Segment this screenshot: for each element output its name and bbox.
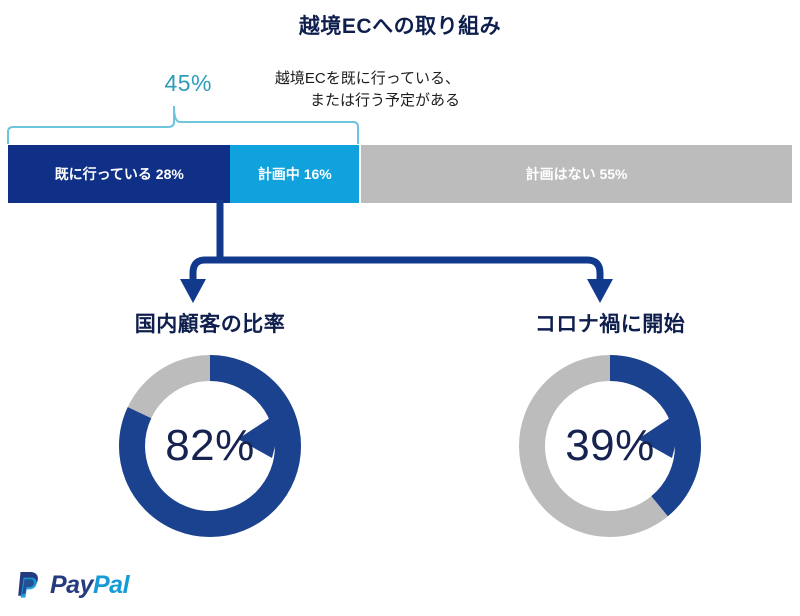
donut-title: 国内顧客の比率 (50, 308, 370, 338)
donut-value-label: 39% (510, 346, 710, 546)
bar-segment-label: 既に行っている 28% (55, 164, 184, 184)
connector-arrows (0, 200, 800, 310)
bar-segment-label: 計画中 16% (258, 164, 332, 184)
paypal-monogram-icon (14, 570, 42, 600)
donut-value-label: 82% (110, 346, 310, 546)
stacked-bar-chart: 既に行っている 28% 計画中 16% 計画はない 55% (8, 145, 792, 203)
donut-title: コロナ禍に開始 (450, 308, 770, 338)
paypal-wordmark-pal: Pal (93, 571, 129, 599)
callout-percent-label: 45% (140, 70, 212, 97)
bracket-icon (0, 98, 380, 146)
donut-chart-started-during-covid: コロナ禍に開始 39% (450, 308, 770, 546)
paypal-wordmark-pay: Pay (50, 571, 93, 599)
bar-segment-already-doing[interactable]: 既に行っている 28% (8, 145, 230, 203)
bar-segment-no-plan[interactable]: 計画はない 55% (361, 145, 792, 203)
paypal-wordmark: PayPal (50, 571, 129, 600)
page-title: 越境ECへの取り組み (0, 10, 800, 40)
donut-graphic: 39% (510, 346, 710, 546)
arrow-head-right (587, 279, 613, 303)
arrow-head-left (180, 279, 206, 303)
paypal-logo: PayPal (14, 570, 129, 600)
donut-graphic: 82% (110, 346, 310, 546)
bar-segment-label: 計画はない 55% (526, 164, 628, 184)
donut-chart-domestic-customers: 国内顧客の比率 82% (50, 308, 370, 546)
bar-segment-planning[interactable]: 計画中 16% (230, 145, 359, 203)
